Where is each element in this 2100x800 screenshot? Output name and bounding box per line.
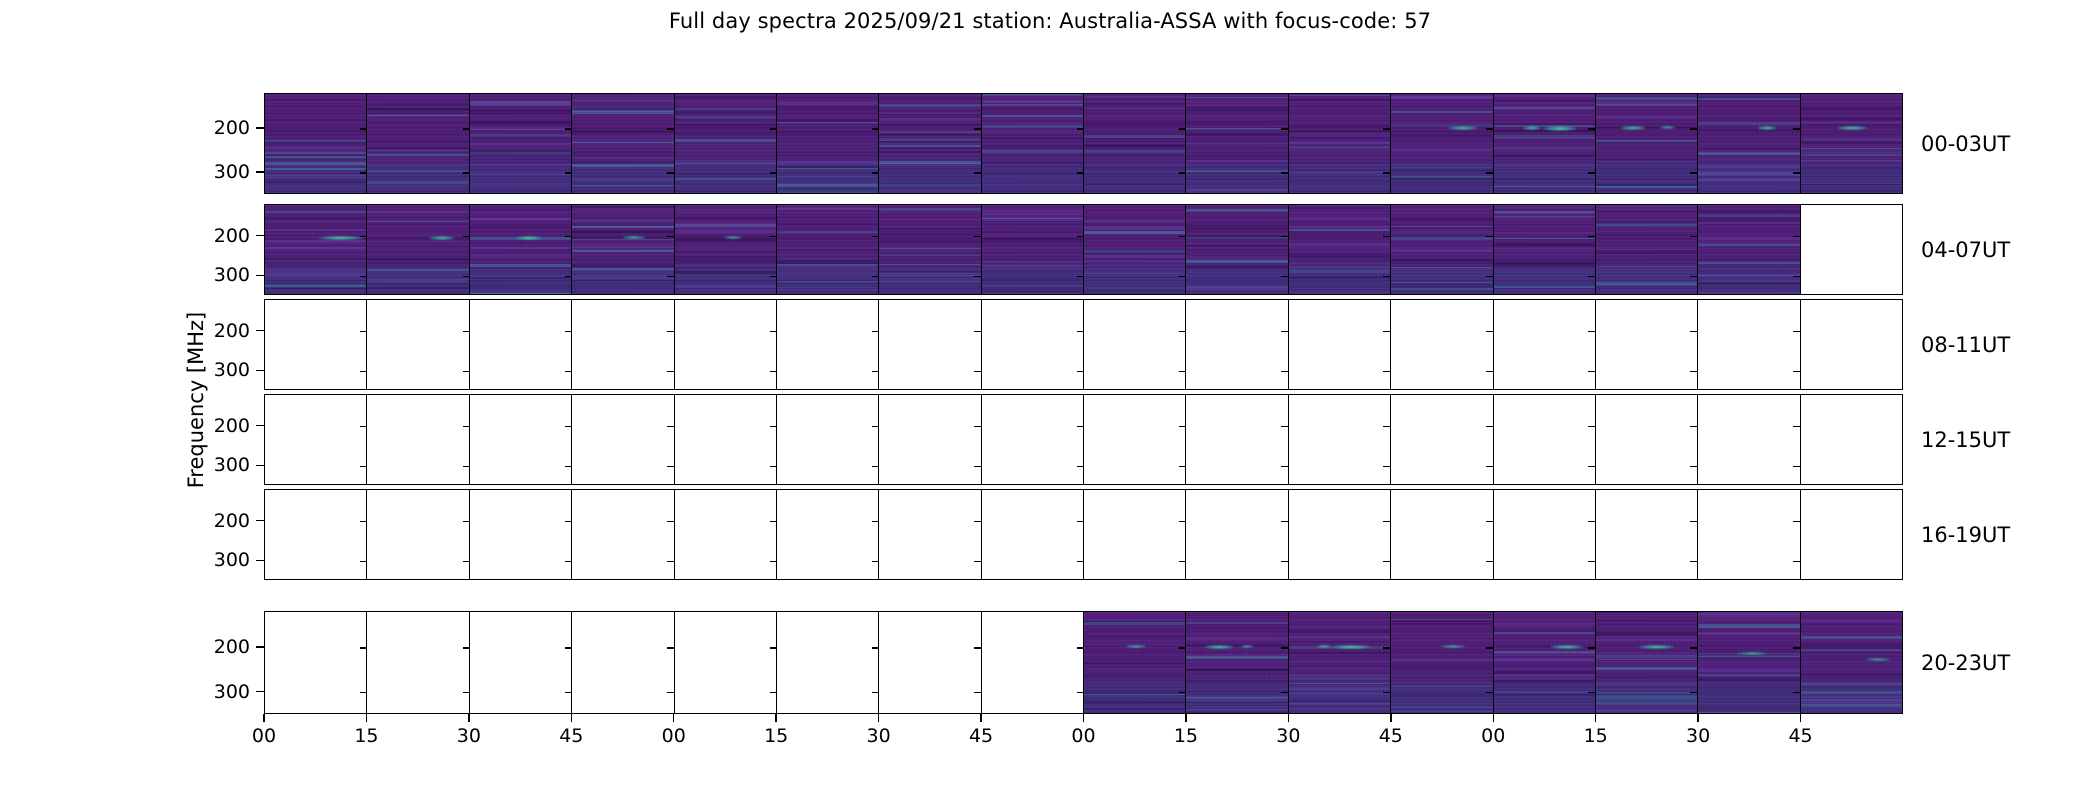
- rfi-band: [1289, 217, 1390, 220]
- y-tick-mark: [256, 275, 264, 276]
- rfi-band: [1698, 165, 1799, 168]
- y-tick-mark: [1793, 692, 1800, 693]
- rfi-band: [777, 102, 878, 105]
- rfi-band: [1698, 244, 1799, 245]
- rfi-band: [1596, 231, 1697, 234]
- rfi-band: [470, 242, 571, 244]
- rfi-band: [777, 258, 878, 260]
- rfi-band: [879, 138, 980, 141]
- spectrogram-cell: [776, 205, 878, 294]
- spectrogram-cell: [1083, 612, 1185, 713]
- spectrogram-image: [1084, 94, 1185, 193]
- rfi-band: [1391, 694, 1492, 697]
- rfi-band: [982, 220, 1083, 221]
- rfi-band: [879, 147, 980, 150]
- rfi-band: [879, 248, 980, 249]
- rfi-band: [1289, 95, 1390, 96]
- rfi-band: [1698, 292, 1799, 294]
- row-label: 08-11UT: [1921, 333, 2010, 357]
- rfi-band: [879, 134, 980, 136]
- rfi-band: [777, 281, 878, 283]
- rfi-band: [1186, 709, 1287, 710]
- rfi-band: [1494, 123, 1595, 124]
- y-tick-mark: [463, 331, 470, 332]
- rfi-band: [1289, 665, 1390, 666]
- y-tick-mark: [872, 172, 879, 173]
- x-tick-label: 30: [1686, 725, 1710, 747]
- low-band-clutter: [1391, 685, 1492, 713]
- spectrogram-cell: [1493, 94, 1595, 193]
- rfi-band: [1391, 659, 1492, 661]
- rfi-band: [1289, 257, 1390, 258]
- rfi-band: [1494, 145, 1595, 146]
- rfi-band: [1494, 246, 1595, 248]
- low-band-clutter: [1289, 685, 1390, 713]
- y-tick-mark: [667, 466, 674, 467]
- rfi-band: [1494, 691, 1595, 693]
- rfi-band: [572, 250, 673, 251]
- rfi-band: [367, 251, 468, 252]
- rfi-band: [879, 292, 980, 293]
- low-band-clutter: [777, 165, 878, 193]
- rfi-band: [777, 97, 878, 99]
- rfi-band: [1186, 242, 1287, 245]
- rfi-band: [1391, 667, 1492, 669]
- rfi-band: [367, 287, 468, 289]
- rfi-band: [1084, 690, 1185, 693]
- rfi-band: [1084, 174, 1185, 175]
- y-tick-mark: [1179, 128, 1186, 129]
- rfi-band: [1494, 694, 1595, 696]
- rfi-band: [1084, 700, 1185, 702]
- rfi-band: [1596, 168, 1697, 169]
- rfi-band: [1084, 167, 1185, 169]
- spectrogram-cell: [1083, 205, 1185, 294]
- rfi-band: [265, 237, 366, 238]
- spectrogram-cell: [571, 94, 673, 193]
- rfi-band: [675, 260, 776, 262]
- rfi-band: [1391, 664, 1492, 667]
- y-tick-mark: [1179, 647, 1186, 648]
- y-tick-mark: [770, 172, 777, 173]
- rfi-band: [777, 151, 878, 153]
- rfi-band: [675, 268, 776, 269]
- rfi-band: [879, 114, 980, 117]
- rfi-band: [1289, 142, 1390, 144]
- rfi-band: [572, 226, 673, 228]
- rfi-band: [1698, 147, 1799, 149]
- low-band-clutter: [982, 269, 1083, 294]
- rfi-band: [367, 246, 468, 248]
- rfi-band: [1596, 693, 1697, 696]
- rfi-band: [1698, 159, 1799, 160]
- empty-cell: [469, 300, 571, 389]
- rfi-band: [1186, 289, 1287, 290]
- rfi-band: [1596, 632, 1697, 635]
- y-tick-mark: [1383, 371, 1390, 372]
- rfi-band: [1596, 634, 1697, 636]
- x-tick-mark: [1185, 714, 1186, 722]
- y-tick-label: 200: [202, 510, 250, 532]
- rfi-band: [1698, 222, 1799, 224]
- rfi-band: [470, 292, 571, 293]
- rfi-band: [470, 264, 571, 267]
- rfi-band: [1289, 626, 1390, 628]
- spectrogram-cell: [1697, 205, 1799, 294]
- y-tick-mark: [1179, 426, 1186, 427]
- y-tick-mark: [1690, 331, 1697, 332]
- rfi-band: [982, 137, 1083, 139]
- spectrogram-image: [1391, 612, 1492, 713]
- x-tick-label: 00: [252, 725, 276, 747]
- rfi-band: [1391, 135, 1492, 137]
- rfi-band: [572, 123, 673, 124]
- spectrogram-cell: [1390, 205, 1492, 294]
- rfi-band: [1186, 107, 1287, 110]
- rfi-band: [470, 240, 571, 242]
- rfi-band: [1186, 160, 1287, 162]
- rfi-band: [982, 175, 1083, 178]
- spectrogram-image: [470, 205, 571, 294]
- rfi-band: [1391, 130, 1492, 131]
- rfi-band: [1698, 616, 1799, 618]
- rfi-band: [675, 178, 776, 180]
- y-tick-mark: [1588, 331, 1595, 332]
- rfi-band: [1494, 674, 1595, 676]
- x-tick-mark: [468, 714, 469, 722]
- rfi-band: [1494, 651, 1595, 653]
- rfi-band: [1391, 267, 1492, 268]
- y-tick-mark: [463, 371, 470, 372]
- rfi-band: [777, 265, 878, 266]
- spectrogram-figure: Full day spectra 2025/09/21 station: Aus…: [0, 0, 2100, 800]
- rfi-band: [1084, 250, 1185, 253]
- spectrogram-image: [675, 94, 776, 193]
- rfi-band: [1801, 646, 1902, 647]
- y-tick-mark: [770, 371, 777, 372]
- rfi-band: [777, 122, 878, 123]
- spectrogram-image: [1391, 205, 1492, 294]
- rfi-band: [1084, 642, 1185, 644]
- rfi-band: [265, 210, 366, 213]
- rfi-band: [1289, 291, 1390, 292]
- rfi-band: [1289, 141, 1390, 143]
- rfi-band: [1391, 686, 1492, 687]
- rfi-band: [1698, 235, 1799, 236]
- rfi-band: [1289, 207, 1390, 209]
- rfi-band: [1698, 122, 1799, 124]
- spectrogram-image: [1289, 94, 1390, 193]
- x-tick-mark: [1288, 714, 1289, 722]
- rfi-band: [1801, 109, 1902, 110]
- y-tick-mark: [1281, 172, 1288, 173]
- rfi-band: [777, 265, 878, 268]
- rfi-band: [265, 168, 366, 170]
- y-tick-mark: [872, 647, 879, 648]
- x-tick-label: 45: [1788, 725, 1812, 747]
- rfi-band: [1596, 209, 1697, 210]
- rfi-band: [1289, 674, 1390, 676]
- rfi-band: [1801, 646, 1902, 649]
- rfi-band: [470, 268, 571, 269]
- rfi-band: [675, 163, 776, 164]
- rfi-band: [1698, 655, 1799, 657]
- rfi-band: [1698, 173, 1799, 175]
- rfi-band: [1186, 700, 1287, 702]
- rfi-band: [1801, 184, 1902, 186]
- y-tick-mark: [1793, 128, 1800, 129]
- spectrogram-image: [777, 94, 878, 193]
- x-tick-mark: [878, 714, 879, 722]
- rfi-band: [1186, 637, 1287, 639]
- rfi-band: [1494, 130, 1595, 133]
- rfi-band: [265, 129, 366, 132]
- rfi-band: [1494, 137, 1595, 139]
- spectrogram-cell: [1697, 612, 1799, 713]
- y-tick-mark: [1486, 466, 1493, 467]
- rfi-band: [265, 226, 366, 229]
- rfi-band: [367, 120, 468, 122]
- rfi-band: [879, 124, 980, 127]
- rfi-band: [777, 281, 878, 282]
- rfi-band: [1494, 678, 1595, 679]
- rfi-band: [1801, 696, 1902, 697]
- rfi-band: [675, 173, 776, 175]
- y-tick-mark: [1588, 236, 1595, 237]
- rfi-band: [572, 178, 673, 181]
- row-label: 16-19UT: [1921, 523, 2010, 547]
- rfi-band: [1596, 104, 1697, 106]
- spectrogram-image: [572, 205, 673, 294]
- empty-cell: [776, 612, 878, 713]
- rfi-band: [1698, 171, 1799, 172]
- rfi-band: [572, 105, 673, 108]
- rfi-band: [265, 162, 366, 165]
- spectrogram-image: [1596, 94, 1697, 193]
- rfi-band: [675, 124, 776, 126]
- x-tick-mark: [263, 714, 264, 722]
- rfi-band: [470, 122, 571, 125]
- rfi-band: [265, 99, 366, 101]
- rfi-band: [367, 235, 468, 237]
- y-tick-mark: [667, 692, 674, 693]
- y-tick-mark: [1588, 276, 1595, 277]
- rfi-band: [1084, 184, 1185, 186]
- rfi-band: [675, 139, 776, 142]
- rfi-band: [1801, 706, 1902, 709]
- y-tick-mark: [1179, 692, 1186, 693]
- rfi-band: [1801, 118, 1902, 119]
- empty-cell: [1083, 395, 1185, 484]
- y-tick-mark: [1588, 371, 1595, 372]
- rfi-band: [1596, 178, 1697, 179]
- rfi-band: [1494, 155, 1595, 157]
- rfi-band: [367, 211, 468, 213]
- y-tick-mark: [770, 128, 777, 129]
- y-tick-mark: [770, 426, 777, 427]
- rfi-band: [1698, 646, 1799, 647]
- rfi-band: [265, 285, 366, 288]
- rfi-band: [1186, 170, 1287, 172]
- rfi-band: [1596, 652, 1697, 655]
- rfi-band: [1186, 626, 1287, 628]
- rfi-band: [265, 240, 366, 243]
- spectrogram-cell: [1288, 612, 1390, 713]
- rfi-band: [675, 162, 776, 164]
- low-band-clutter: [1289, 269, 1390, 294]
- rfi-band: [675, 209, 776, 211]
- rfi-band: [1698, 237, 1799, 240]
- rfi-band: [777, 121, 878, 123]
- rfi-band: [1494, 244, 1595, 246]
- rfi-band: [1289, 289, 1390, 290]
- rfi-band: [470, 173, 571, 175]
- y-tick-mark: [1486, 371, 1493, 372]
- y-tick-mark: [1281, 371, 1288, 372]
- rfi-band: [675, 265, 776, 266]
- low-band-clutter: [1698, 269, 1799, 294]
- rfi-band: [572, 280, 673, 281]
- rfi-band: [982, 218, 1083, 219]
- rfi-band: [1698, 212, 1799, 214]
- y-tick-label: 200: [202, 117, 250, 139]
- rfi-band: [470, 101, 571, 103]
- rfi-band: [470, 103, 571, 105]
- rfi-band: [265, 147, 366, 149]
- rfi-band: [572, 206, 673, 208]
- rfi-band: [1596, 210, 1697, 211]
- rfi-band: [675, 238, 776, 241]
- rfi-band: [982, 236, 1083, 237]
- low-band-clutter: [1391, 165, 1492, 193]
- rfi-band: [367, 211, 468, 212]
- empty-cell: [981, 300, 1083, 389]
- y-tick-mark: [360, 331, 367, 332]
- rfi-band: [1494, 125, 1595, 127]
- y-tick-mark: [565, 647, 572, 648]
- rfi-band: [367, 121, 468, 124]
- rfi-band: [1596, 127, 1697, 130]
- y-tick-mark: [1690, 371, 1697, 372]
- rfi-band: [1801, 118, 1902, 120]
- rfi-band: [1698, 669, 1799, 672]
- rfi-band: [1391, 170, 1492, 172]
- spectrogram-image: [1186, 612, 1287, 713]
- y-tick-mark: [1383, 276, 1390, 277]
- rfi-band: [1494, 261, 1595, 264]
- rfi-band: [1801, 122, 1902, 123]
- rfi-band: [1494, 690, 1595, 691]
- rfi-band: [777, 289, 878, 290]
- y-tick-mark: [1588, 561, 1595, 562]
- y-tick-mark: [872, 236, 879, 237]
- y-tick-mark: [1793, 276, 1800, 277]
- rfi-band: [1391, 266, 1492, 267]
- rfi-band: [1801, 620, 1902, 621]
- y-tick-mark: [974, 521, 981, 522]
- low-band-clutter: [1698, 685, 1799, 713]
- empty-cell: [674, 300, 776, 389]
- rfi-band: [982, 239, 1083, 242]
- rfi-band: [879, 280, 980, 283]
- rfi-band: [1289, 229, 1390, 231]
- rfi-band: [1596, 667, 1697, 670]
- y-tick-mark: [974, 466, 981, 467]
- rfi-band: [982, 132, 1083, 134]
- empty-cell: [1800, 300, 1902, 389]
- rfi-band: [470, 212, 571, 214]
- rfi-band: [1801, 649, 1902, 652]
- rfi-band: [1494, 207, 1595, 209]
- rfi-band: [1186, 151, 1287, 153]
- rfi-band: [572, 164, 673, 166]
- low-band-clutter: [777, 269, 878, 294]
- rfi-band: [675, 217, 776, 219]
- y-tick-mark: [256, 560, 264, 561]
- y-tick-mark: [1077, 692, 1084, 693]
- spectrogram-image: [1801, 94, 1902, 193]
- rfi-band: [879, 275, 980, 276]
- subplot-cells: [265, 94, 1902, 193]
- rfi-band: [777, 161, 878, 164]
- rfi-band: [982, 238, 1083, 239]
- y-tick-mark: [667, 426, 674, 427]
- y-tick-mark: [1281, 276, 1288, 277]
- spectrogram-image: [1596, 612, 1697, 713]
- rfi-band: [982, 166, 1083, 167]
- rfi-band: [572, 161, 673, 163]
- rfi-band: [572, 244, 673, 245]
- y-tick-mark: [667, 236, 674, 237]
- y-tick-mark: [360, 426, 367, 427]
- rfi-band: [982, 174, 1083, 176]
- rfi-band: [470, 153, 571, 155]
- rfi-band: [1391, 288, 1492, 291]
- rfi-band: [1801, 699, 1902, 700]
- rfi-band: [1698, 655, 1799, 657]
- y-tick-mark: [565, 331, 572, 332]
- rfi-band: [675, 285, 776, 288]
- rfi-band: [1494, 680, 1595, 683]
- rfi-band: [675, 143, 776, 146]
- rfi-band: [1186, 241, 1287, 242]
- rfi-band: [675, 119, 776, 120]
- rfi-band: [1084, 135, 1185, 138]
- rfi-band: [1494, 238, 1595, 239]
- rfi-band: [265, 260, 366, 261]
- rfi-band: [1186, 622, 1287, 623]
- empty-cell: [571, 395, 673, 484]
- spectrogram-cell: [1595, 205, 1697, 294]
- y-tick-mark: [1383, 561, 1390, 562]
- rfi-band: [1289, 288, 1390, 290]
- spectrogram-image: [1186, 94, 1287, 193]
- rfi-band: [265, 140, 366, 142]
- rfi-band: [1186, 667, 1287, 668]
- rfi-band: [1186, 703, 1287, 704]
- spectrogram-image: [675, 205, 776, 294]
- rfi-band: [1084, 260, 1185, 262]
- rfi-band: [1391, 284, 1492, 286]
- rfi-band: [1186, 189, 1287, 192]
- empty-cell: [981, 612, 1083, 713]
- rfi-band: [1391, 619, 1492, 620]
- rfi-band: [367, 279, 468, 280]
- y-tick-label: 300: [202, 264, 250, 286]
- y-tick-label: 300: [202, 454, 250, 476]
- rfi-band: [367, 221, 468, 222]
- y-tick-mark: [1179, 276, 1186, 277]
